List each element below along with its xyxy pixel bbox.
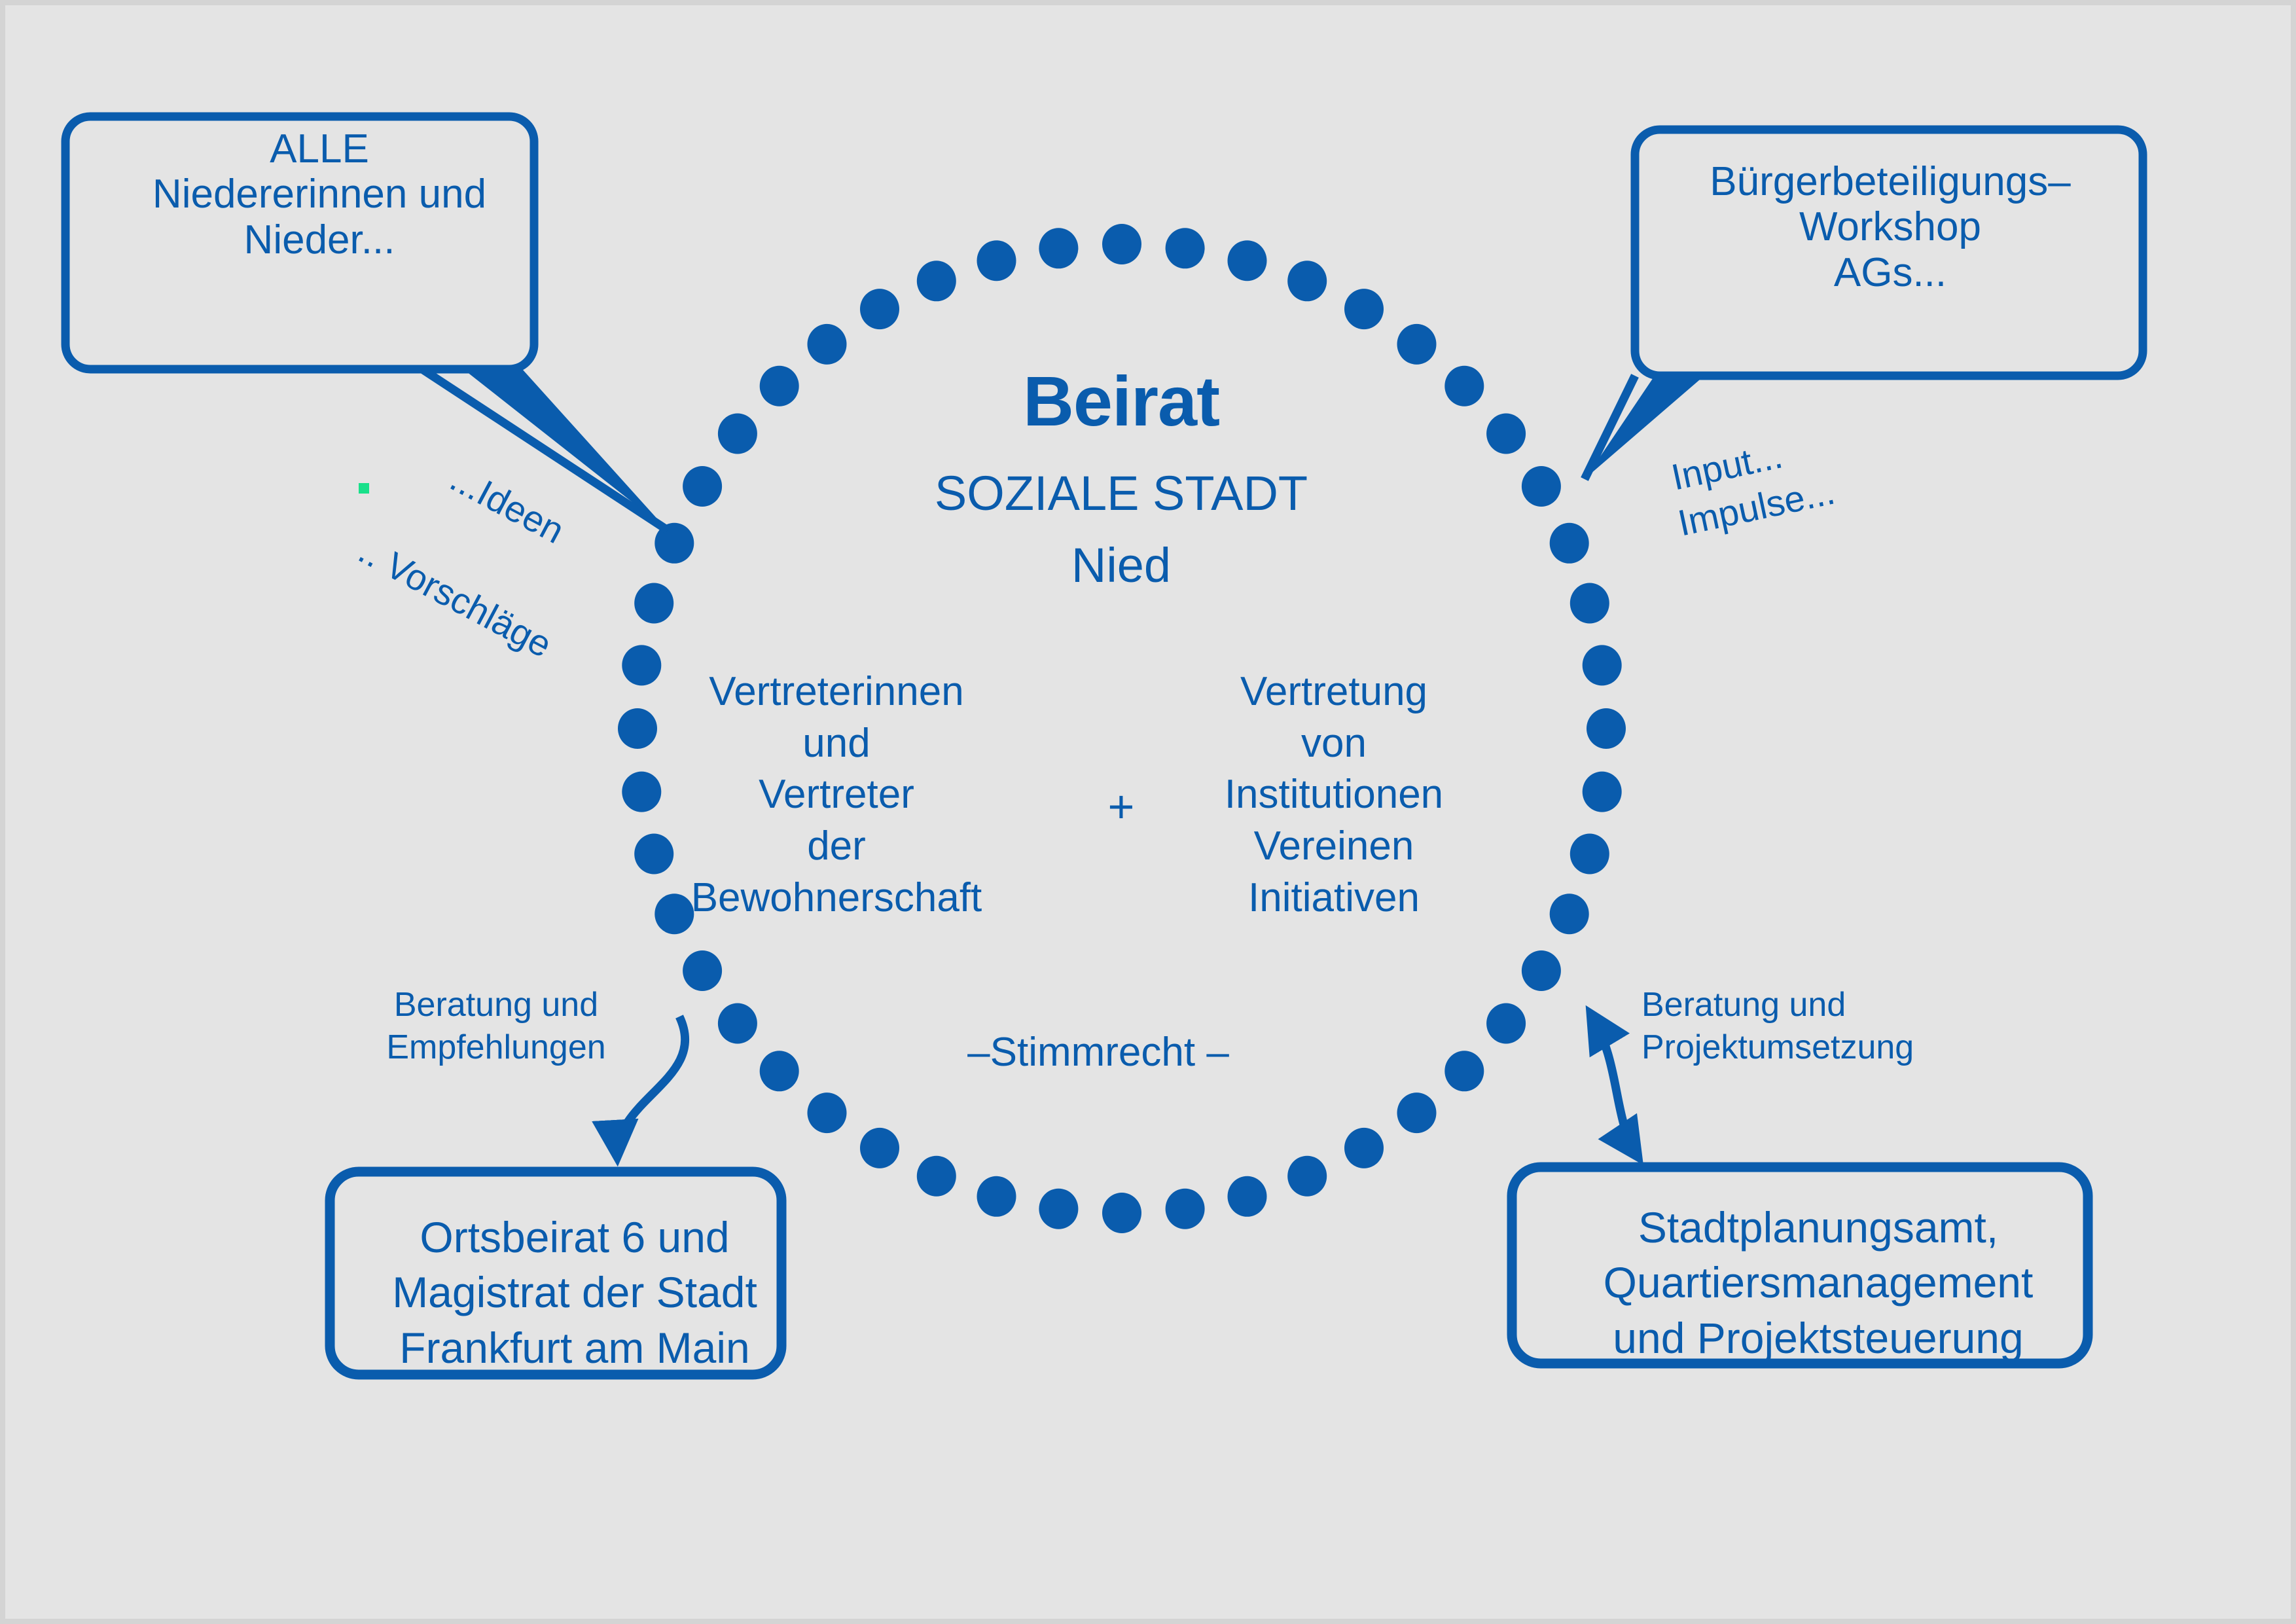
ring-dot xyxy=(1583,645,1622,685)
circle-footnote-stimmrecht: –Stimmrecht – xyxy=(882,1030,1314,1075)
ring-dot xyxy=(1550,893,1589,934)
ring-dot xyxy=(1344,289,1384,329)
ring-dot xyxy=(1550,523,1589,564)
ring-dot xyxy=(1166,228,1205,268)
ring-dot xyxy=(1397,324,1437,365)
ring-dot xyxy=(760,1051,799,1091)
circle-title: Beirat xyxy=(784,362,1458,441)
ring-dot xyxy=(917,1156,956,1197)
ring-dot xyxy=(977,240,1016,281)
circle-subtitle-line2: Nied xyxy=(784,539,1458,593)
annotation-beratung-projektumsetzung: Beratung und Projektumsetzung xyxy=(1641,984,1956,1069)
ring-dot xyxy=(860,289,899,329)
ring-dot xyxy=(917,261,956,301)
speech-bubble-top-right-label: Bürgerbeteiligungs– Workshop AGs... xyxy=(1655,159,2126,295)
ring-dot xyxy=(1522,466,1561,507)
ring-dot xyxy=(1397,1092,1437,1133)
circle-subtitle-line1: SOZIALE STADT xyxy=(784,467,1458,521)
ring-dot xyxy=(718,1003,757,1044)
ring-dot xyxy=(683,466,722,507)
box-stadtplanungsamt-label: Stadtplanungsamt, Quartiersmanagement un… xyxy=(1530,1200,2106,1365)
ring-dot xyxy=(1486,414,1526,454)
ring-dot xyxy=(1039,228,1078,268)
ring-dot xyxy=(622,645,661,685)
annotation-beratung-empfehlungen: Beratung und Empfehlungen xyxy=(359,984,634,1069)
ring-dot xyxy=(718,414,757,454)
ring-dot xyxy=(1587,708,1626,749)
box-ortsbeirat-magistrat-label: Ortsbeirat 6 und Magistrat der Stadt Fra… xyxy=(346,1210,804,1375)
ring-dot xyxy=(1486,1003,1526,1044)
diagram-canvas: ALLE Niedererinnen und Nieder... Bürgerb… xyxy=(5,5,2291,1619)
ring-dot xyxy=(622,772,661,812)
ring-dot xyxy=(1228,240,1267,281)
ring-dot xyxy=(1287,261,1327,301)
ring-dot xyxy=(683,950,722,991)
ring-dot xyxy=(808,324,847,365)
ring-dot xyxy=(1344,1128,1384,1168)
ring-dot xyxy=(1102,1193,1141,1233)
ring-dot xyxy=(1570,834,1609,875)
ring-dot xyxy=(977,1176,1016,1217)
ring-dot xyxy=(634,583,673,624)
ring-dot xyxy=(1570,583,1609,624)
ring-dot xyxy=(1102,224,1141,264)
ring-dot xyxy=(1522,950,1561,991)
ring-dot xyxy=(1166,1189,1205,1229)
circle-plus-symbol: + xyxy=(1066,781,1177,832)
green-marker-dot xyxy=(359,483,369,494)
ring-dot xyxy=(1039,1189,1078,1229)
circle-column-left: Vertreterinnen und Vertreter der Bewohne… xyxy=(666,666,1007,924)
speech-bubble-top-left-label: ALLE Niedererinnen und Nieder... xyxy=(84,126,555,262)
circle-column-right: Vertretung von Institutionen Vereinen In… xyxy=(1183,666,1484,924)
ring-dot xyxy=(1287,1156,1327,1197)
ring-dot xyxy=(618,708,657,749)
ring-dot xyxy=(1444,1051,1484,1091)
ring-dot xyxy=(808,1092,847,1133)
ring-dot xyxy=(1583,772,1622,812)
ring-dot xyxy=(860,1128,899,1168)
ring-dot xyxy=(1228,1176,1267,1217)
arrow-beratung-projektumsetzung xyxy=(1590,1013,1638,1157)
